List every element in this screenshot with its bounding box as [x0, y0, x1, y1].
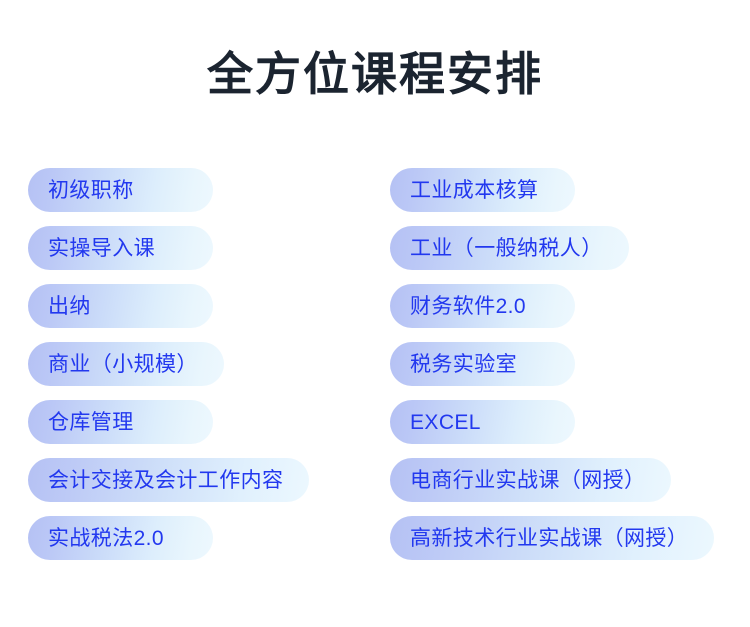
course-columns: 初级职称 实操导入课 出纳 商业（小规模） 仓库管理 会计交接及会计工作内容 实…: [0, 168, 750, 560]
course-pill-label: 工业成本核算: [410, 180, 538, 201]
course-pill[interactable]: 电商行业实战课（网授）: [390, 458, 671, 502]
course-pill[interactable]: 税务实验室: [390, 342, 575, 386]
page-title: 全方位课程安排: [0, 48, 750, 101]
course-pill-label: 出纳: [48, 296, 91, 317]
course-pill[interactable]: EXCEL: [390, 400, 575, 444]
course-pill-label: 商业（小规模）: [48, 354, 198, 375]
course-pill-label: 实战税法2.0: [48, 528, 164, 549]
course-pill[interactable]: 会计交接及会计工作内容: [28, 458, 309, 502]
course-pill[interactable]: 实操导入课: [28, 226, 213, 270]
course-pill[interactable]: 实战税法2.0: [28, 516, 213, 560]
course-pill[interactable]: 财务软件2.0: [390, 284, 575, 328]
course-pill-label: 电商行业实战课（网授）: [410, 470, 645, 491]
course-pill[interactable]: 出纳: [28, 284, 213, 328]
course-pill-label: 初级职称: [48, 180, 134, 201]
course-column-left: 初级职称 实操导入课 出纳 商业（小规模） 仓库管理 会计交接及会计工作内容 实…: [28, 168, 368, 560]
course-pill-label: 会计交接及会计工作内容: [48, 470, 283, 491]
course-pill-label: 财务软件2.0: [410, 296, 526, 317]
course-pill[interactable]: 工业（一般纳税人）: [390, 226, 629, 270]
course-pill-label: 仓库管理: [48, 412, 134, 433]
course-schedule-poster: 全方位课程安排 初级职称 实操导入课 出纳 商业（小规模） 仓库管理 会计交接及…: [0, 0, 750, 627]
course-pill-label: 税务实验室: [410, 354, 517, 375]
course-pill-label: EXCEL: [410, 412, 481, 433]
course-pill[interactable]: 工业成本核算: [390, 168, 575, 212]
title-block: 全方位课程安排: [0, 48, 750, 101]
course-pill[interactable]: 商业（小规模）: [28, 342, 224, 386]
course-pill-label: 高新技术行业实战课（网授）: [410, 528, 688, 549]
course-pill[interactable]: 仓库管理: [28, 400, 213, 444]
course-pill-label: 实操导入课: [48, 238, 155, 259]
course-pill[interactable]: 高新技术行业实战课（网授）: [390, 516, 714, 560]
course-pill-label: 工业（一般纳税人）: [410, 238, 603, 259]
course-pill[interactable]: 初级职称: [28, 168, 213, 212]
course-column-right: 工业成本核算 工业（一般纳税人） 财务软件2.0 税务实验室 EXCEL 电商行…: [390, 168, 738, 560]
